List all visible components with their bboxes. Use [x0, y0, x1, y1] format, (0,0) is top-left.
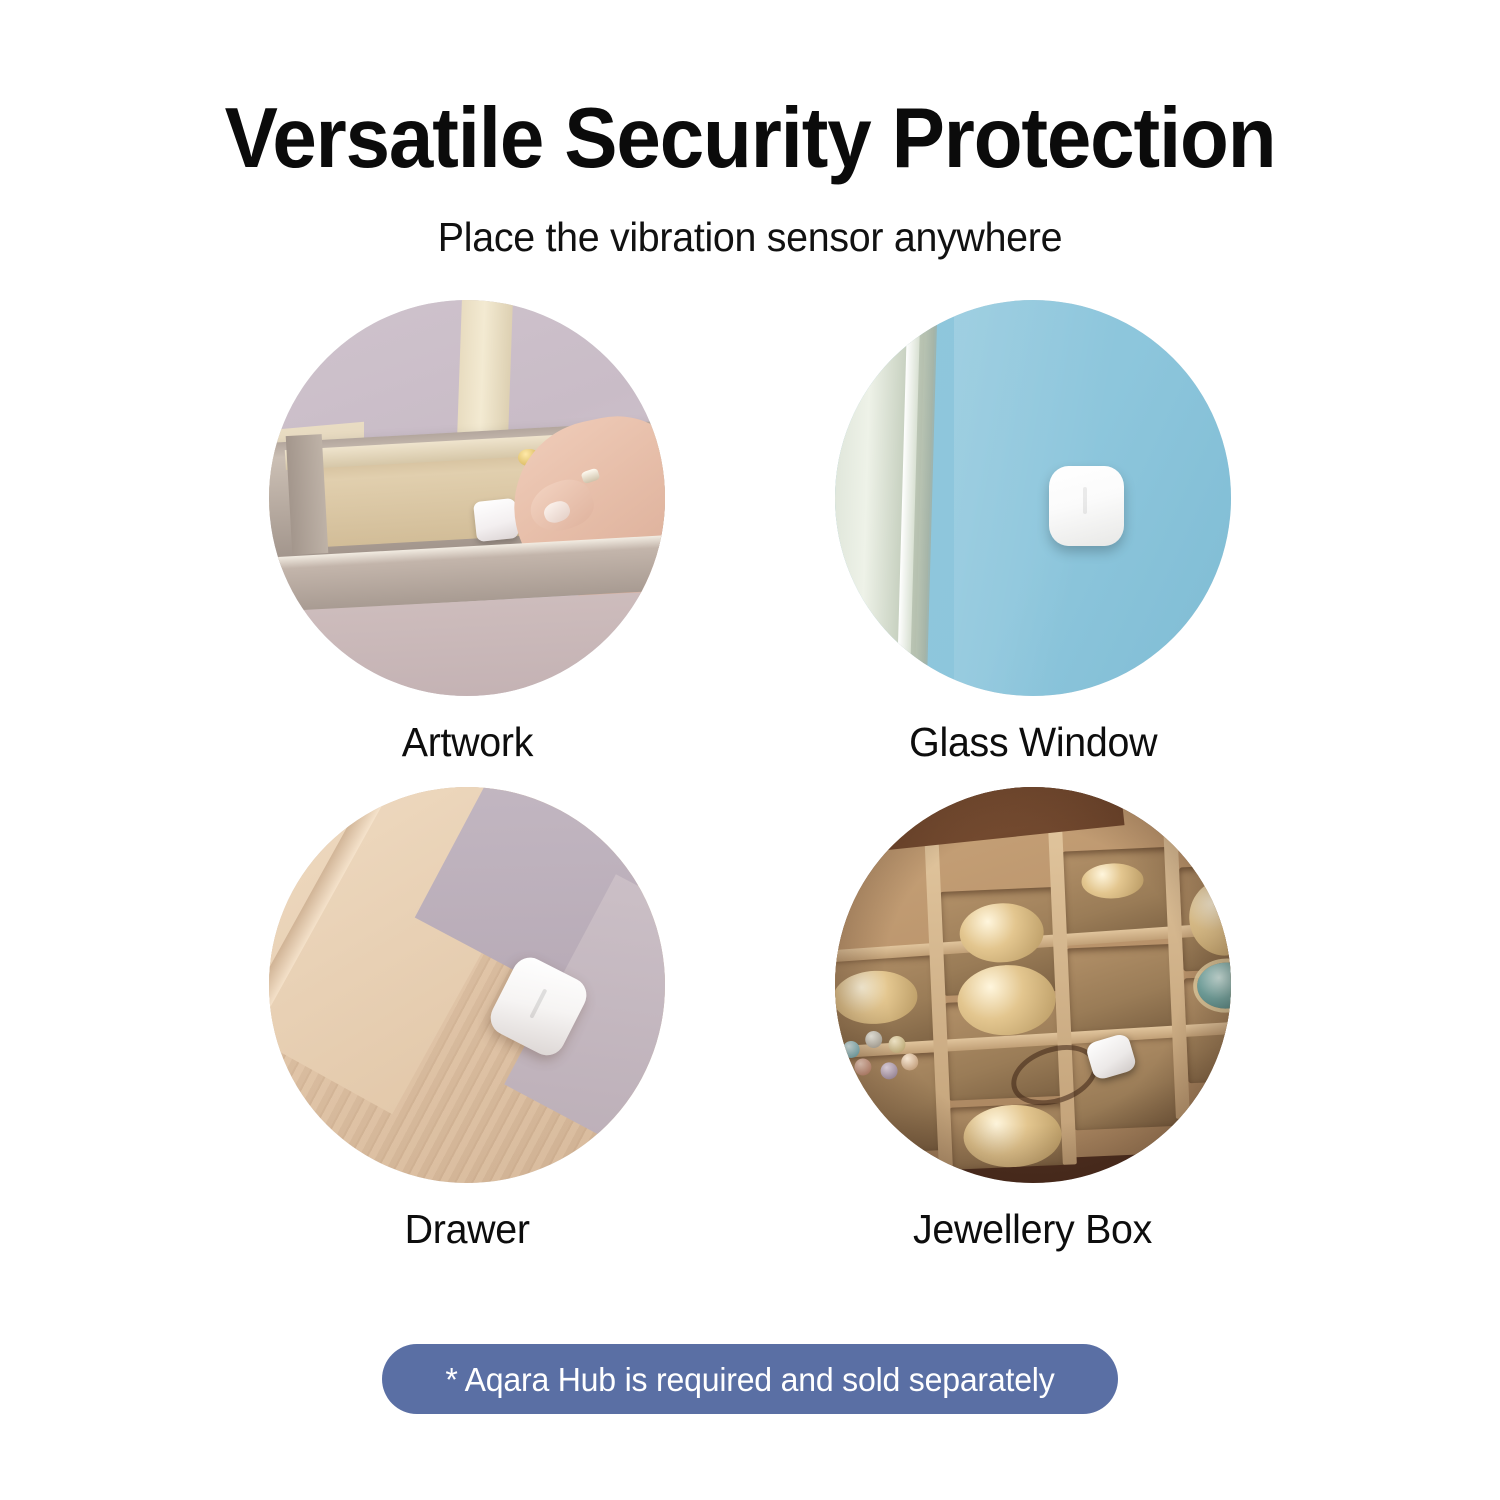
photo-jewellery-box — [835, 787, 1231, 1183]
hub-required-note: * Aqara Hub is required and sold separat… — [445, 1363, 1054, 1396]
hub-required-badge: * Aqara Hub is required and sold separat… — [382, 1344, 1118, 1414]
page-title: Versatile Security Protection — [45, 96, 1455, 181]
infographic-page: Versatile Security Protection Place the … — [0, 0, 1500, 1500]
artwork-scene — [269, 300, 665, 696]
use-case-card-glass-window: Glass Window — [802, 300, 1264, 763]
drawer-scene — [269, 787, 665, 1183]
vibration-sensor — [473, 498, 518, 542]
use-case-card-jewellery-box: Jewellery Box — [802, 787, 1264, 1250]
glass-window-scene — [835, 300, 1231, 696]
page-subtitle: Place the vibration sensor anywhere — [30, 217, 1470, 258]
vibration-sensor — [1049, 466, 1124, 545]
use-case-label-artwork: Artwork — [401, 722, 532, 763]
photo-artwork — [269, 300, 665, 696]
use-case-label-drawer: Drawer — [404, 1209, 529, 1250]
sensor-body — [1049, 466, 1124, 545]
use-case-label-jewellery-box: Jewellery Box — [913, 1209, 1152, 1250]
photo-vignette — [835, 787, 1231, 1183]
use-case-label-glass-window: Glass Window — [909, 722, 1157, 763]
photo-glass-window — [835, 300, 1231, 696]
use-case-card-artwork: Artwork — [236, 300, 698, 763]
footer: * Aqara Hub is required and sold separat… — [0, 1344, 1500, 1414]
use-case-card-drawer: Drawer — [236, 787, 698, 1250]
jewellery-box-scene — [835, 787, 1231, 1183]
sensor-slit-icon — [529, 989, 548, 1019]
header: Versatile Security Protection Place the … — [0, 96, 1500, 258]
sensor-slit-icon — [1083, 487, 1087, 514]
frame-side-rail — [286, 434, 328, 555]
photo-drawer — [269, 787, 665, 1183]
use-case-grid: Artwork Glass Window — [236, 300, 1264, 1250]
